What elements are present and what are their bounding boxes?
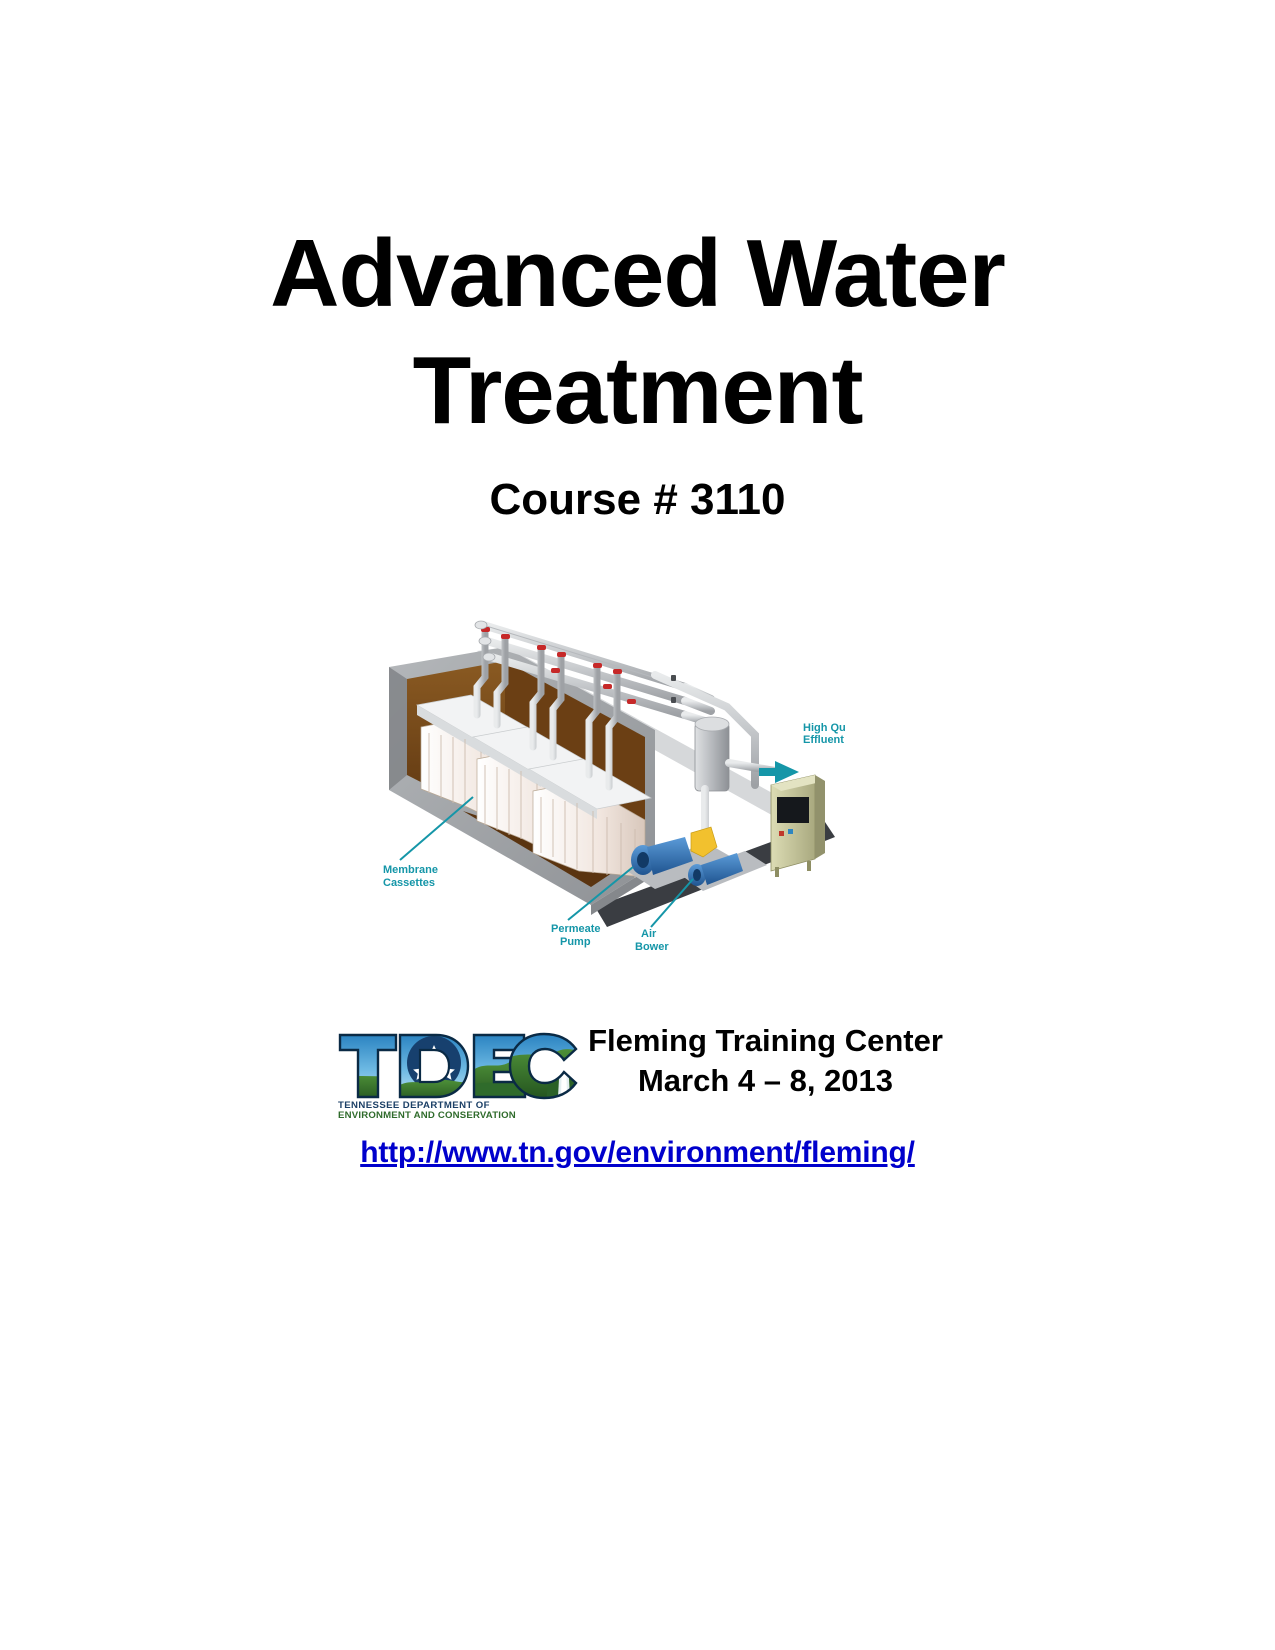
tdec-tagline: TENNESSEE DEPARTMENT OF ENVIRONMENT AND … bbox=[338, 1100, 516, 1120]
label-air-blower-line1: Air bbox=[641, 928, 657, 940]
fleming-website-link[interactable]: http://www.tn.gov/environment/fleming/ bbox=[360, 1136, 915, 1169]
label-permeate-pump-line1: Permeate bbox=[551, 923, 601, 935]
url-line: http://www.tn.gov/environment/fleming/ bbox=[0, 1136, 1275, 1170]
title-block: Advanced Water Treatment Course # 3110 bbox=[0, 215, 1275, 525]
training-center-block: Fleming Training Center March 4 – 8, 201… bbox=[588, 1021, 943, 1104]
page-title: Advanced Water Treatment bbox=[0, 215, 1275, 449]
tdec-letterforms bbox=[332, 1025, 584, 1105]
footer-block: TENNESSEE DEPARTMENT OF ENVIRONMENT AND … bbox=[0, 1005, 1275, 1170]
label-air-blower-line2: Bower bbox=[635, 941, 669, 950]
mbr-diagram: Membrane Cassettes Permeate Pump Air Bow… bbox=[355, 575, 845, 950]
label-high-quality-effluent-line2: Effluent bbox=[803, 734, 844, 746]
logo-row: TENNESSEE DEPARTMENT OF ENVIRONMENT AND … bbox=[0, 1005, 1275, 1120]
training-center-name: Fleming Training Center bbox=[588, 1023, 943, 1058]
training-center-dates: March 4 – 8, 2013 bbox=[588, 1061, 943, 1101]
title-line-2: Treatment bbox=[0, 332, 1275, 449]
label-high-quality-effluent-line1: High Quality bbox=[803, 722, 845, 734]
course-number: Course # 3110 bbox=[0, 475, 1275, 525]
control-panel bbox=[771, 775, 825, 877]
label-permeate-pump-line2: Pump bbox=[560, 936, 591, 948]
tdec-logo: TENNESSEE DEPARTMENT OF ENVIRONMENT AND … bbox=[332, 1005, 584, 1120]
tdec-tagline-line2: ENVIRONMENT AND CONSERVATION bbox=[338, 1110, 516, 1120]
mbr-diagram-svg: Membrane Cassettes Permeate Pump Air Bow… bbox=[355, 575, 845, 950]
label-membrane-cassettes-line2: Cassettes bbox=[383, 877, 435, 889]
document-page: Advanced Water Treatment Course # 3110 bbox=[0, 0, 1275, 1650]
title-line-1: Advanced Water bbox=[270, 220, 1005, 327]
label-membrane-cassettes-line1: Membrane bbox=[383, 864, 438, 876]
permeate-vessel bbox=[695, 717, 729, 791]
